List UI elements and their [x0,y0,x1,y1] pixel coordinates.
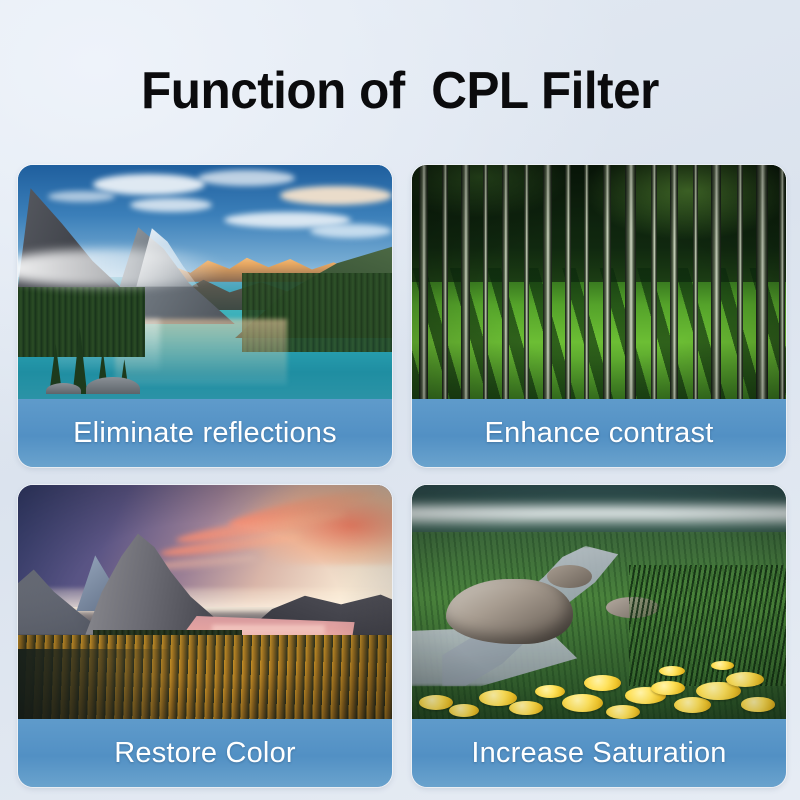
stream-flowers-photo [412,485,786,719]
card-caption: Enhance contrast [412,399,786,467]
feature-card-increase-saturation[interactable]: Increase Saturation [412,485,786,787]
feature-card-enhance-contrast[interactable]: Enhance contrast [412,165,786,467]
card-caption: Eliminate reflections [18,399,392,467]
feature-card-restore-color[interactable]: Restore Color [18,485,392,787]
cpl-filter-infographic: Function of CPL Filter [0,0,800,800]
birch-forest-photo [412,165,786,399]
vignette [18,485,392,719]
vignette [412,165,786,399]
card-caption: Restore Color [18,719,392,787]
feature-card-eliminate-reflections[interactable]: Eliminate reflections [18,165,392,467]
cloud [198,170,295,186]
vignette [412,485,786,719]
cloud [310,224,392,238]
card-caption: Increase Saturation [412,719,786,787]
sunset-lake-photo [18,485,392,719]
mist-band [18,249,227,286]
mountain-lake-photo [18,165,392,399]
cloud [130,198,212,212]
page-title: Function of CPL Filter [20,60,780,122]
foreground-trees [40,324,167,394]
cloud [280,186,392,205]
feature-card-grid: Eliminate reflections [18,165,786,787]
